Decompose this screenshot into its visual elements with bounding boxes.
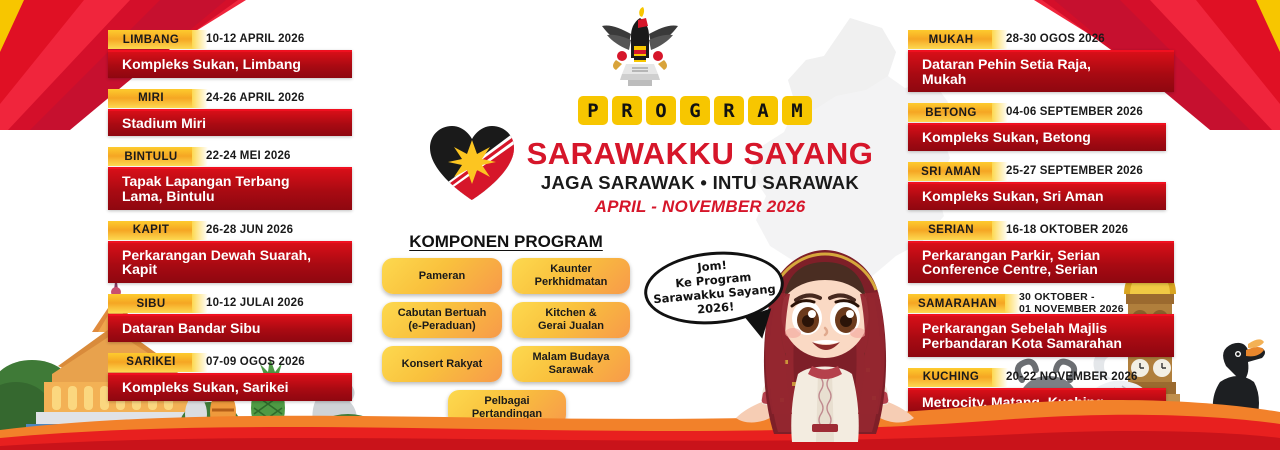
city-tag: BINTULU xyxy=(108,147,194,166)
event-date: 30 OKTOBER - 01 NOVEMBER 2026 xyxy=(1019,292,1124,316)
program-letter-tile: R xyxy=(612,96,642,125)
event-venue: Kompleks Sukan, Limbang xyxy=(108,50,352,78)
program-letter-tile: A xyxy=(748,96,778,125)
event-row[interactable]: MUKAH 28-30 OGOS 2026 Dataran Pehin Seti… xyxy=(908,30,1208,92)
komponen-pill[interactable]: Kaunter Perkhidmatan xyxy=(512,258,630,294)
sarawak-flag-heart-logo-icon xyxy=(424,122,520,202)
event-venue: Perkarangan Dewah Suarah, Kapit xyxy=(108,241,352,283)
city-tag: LIMBANG xyxy=(108,30,194,49)
events-column-left: LIMBANG 10-12 APRIL 2026 Kompleks Sukan,… xyxy=(108,30,408,412)
event-date: 04-06 SEPTEMBER 2026 xyxy=(1006,106,1143,119)
event-row[interactable]: SAMARAHAN 30 OKTOBER - 01 NOVEMBER 2026 … xyxy=(908,294,1208,356)
event-venue: Dataran Bandar Sibu xyxy=(108,314,352,342)
event-date: 28-30 OGOS 2026 xyxy=(1006,33,1105,46)
event-row[interactable]: MIRI 24-26 APRIL 2026 Stadium Miri xyxy=(108,89,408,137)
city-tag: SIBU xyxy=(108,294,194,313)
city-tag: KAPIT xyxy=(108,221,194,240)
event-row[interactable]: LIMBANG 10-12 APRIL 2026 Kompleks Sukan,… xyxy=(108,30,408,78)
event-date: 25-27 SEPTEMBER 2026 xyxy=(1006,165,1143,178)
event-row[interactable]: BETONG 04-06 SEPTEMBER 2026 Kompleks Suk… xyxy=(908,103,1208,151)
komponen-pill[interactable]: Kitchen & Gerai Jualan xyxy=(512,302,630,338)
event-row[interactable]: BINTULU 22-24 MEI 2026 Tapak Lapangan Te… xyxy=(108,147,408,209)
event-row[interactable]: SERIAN 16-18 OKTOBER 2026 Perkarangan Pa… xyxy=(908,221,1208,283)
events-column-right: MUKAH 28-30 OGOS 2026 Dataran Pehin Seti… xyxy=(908,30,1208,426)
city-tag: SRI AMAN xyxy=(908,162,994,181)
event-row[interactable]: SIBU 10-12 JULAI 2026 Dataran Bandar Sib… xyxy=(108,294,408,342)
event-venue: Dataran Pehin Setia Raja, Mukah xyxy=(908,50,1174,92)
program-word-tiles: P R O G R A M xyxy=(578,96,812,125)
program-letter-tile: M xyxy=(782,96,812,125)
event-date: 07-09 OGOS 2026 xyxy=(206,356,305,369)
city-tag: BETONG xyxy=(908,103,994,122)
event-venue: Kompleks Sukan, Sri Aman xyxy=(908,182,1166,210)
program-letter-tile: P xyxy=(578,96,608,125)
event-date: 26-28 JUN 2026 xyxy=(206,224,293,237)
program-letter-tile: G xyxy=(680,96,710,125)
event-date: 22-24 MEI 2026 xyxy=(206,150,291,163)
event-date: 16-18 OKTOBER 2026 xyxy=(1006,224,1128,237)
event-venue: Stadium Miri xyxy=(108,109,352,137)
title-tagline: JAGA SARAWAK • INTU SARAWAK xyxy=(520,172,880,194)
komponen-heading: KOMPONEN PROGRAM xyxy=(406,232,606,252)
promotional-banner: P R O G R A M SARAWAKKU SAYANG JAGA SARA… xyxy=(0,0,1280,450)
event-row[interactable]: SRI AMAN 25-27 SEPTEMBER 2026 Kompleks S… xyxy=(908,162,1208,210)
city-tag: MUKAH xyxy=(908,30,994,49)
event-venue: Tapak Lapangan Terbang Lama, Bintulu xyxy=(108,167,352,209)
title-date-range: APRIL - NOVEMBER 2026 xyxy=(520,197,880,217)
event-date: 24-26 APRIL 2026 xyxy=(206,92,304,105)
event-row[interactable]: KAPIT 26-28 JUN 2026 Perkarangan Dewah S… xyxy=(108,221,408,283)
event-date: 20-22 NOVEMBER 2026 xyxy=(1006,371,1138,384)
city-tag: SARIKEI xyxy=(108,353,194,372)
city-tag: MIRI xyxy=(108,89,194,108)
page-title: SARAWAKKU SAYANG xyxy=(520,136,880,172)
bottom-ribbon xyxy=(0,390,1280,450)
program-letter-tile: O xyxy=(646,96,676,125)
event-date: 10-12 APRIL 2026 xyxy=(206,33,304,46)
event-venue: Kompleks Sukan, Betong xyxy=(908,123,1166,151)
komponen-pill[interactable]: Malam Budaya Sarawak xyxy=(512,346,630,382)
program-letter-tile: R xyxy=(714,96,744,125)
event-date: 10-12 JULAI 2026 xyxy=(206,297,304,310)
sarawak-coat-of-arms-icon xyxy=(598,2,682,90)
